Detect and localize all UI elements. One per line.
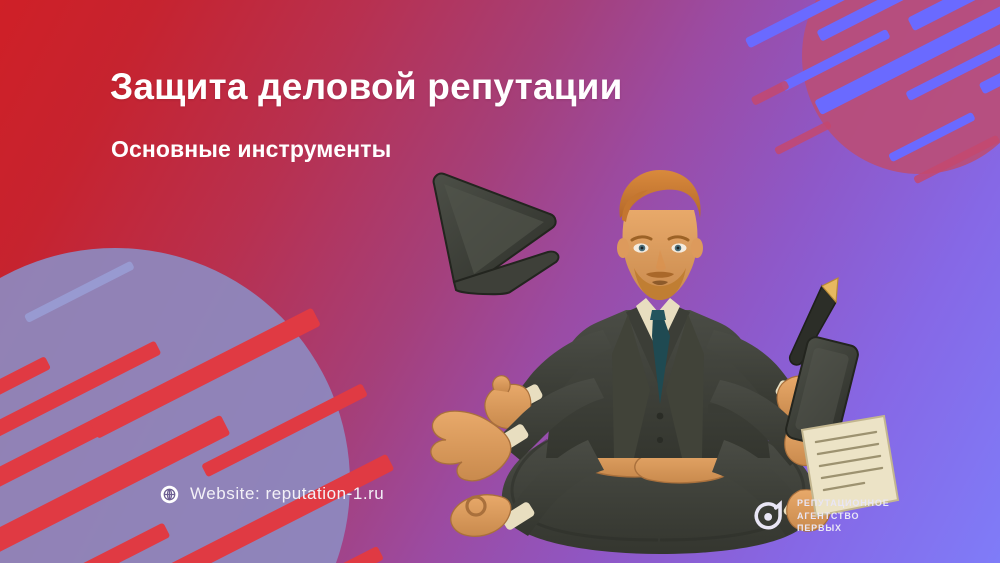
- website-line: Website: reputation-1.ru: [160, 484, 384, 504]
- head: [617, 170, 703, 300]
- decor-disc-periwinkle: [0, 248, 350, 563]
- decor-circle-bottom-left: [0, 248, 350, 563]
- logo-line-1: Репутационное: [797, 498, 890, 510]
- logo-line-3: Первых: [797, 523, 890, 535]
- presentation-slide: Защита деловой репутации Основные инстру…: [0, 0, 1000, 563]
- page-subtitle: Основные инструменты: [111, 136, 391, 163]
- agency-logo-text: Репутационное Агентство Первых: [797, 498, 890, 535]
- logo-line-2: Агентство: [797, 511, 890, 523]
- website-text[interactable]: Website: reputation-1.ru: [190, 484, 384, 504]
- globe-icon: [160, 485, 179, 504]
- page-title: Защита деловой репутации: [110, 66, 623, 108]
- torso-suit: [546, 298, 770, 458]
- agency-logo: Репутационное Агентство Первых: [752, 498, 890, 535]
- laptop-icon: [434, 174, 559, 295]
- decor-stripes-red: [0, 188, 410, 563]
- circle-dot-one-icon: [752, 499, 786, 533]
